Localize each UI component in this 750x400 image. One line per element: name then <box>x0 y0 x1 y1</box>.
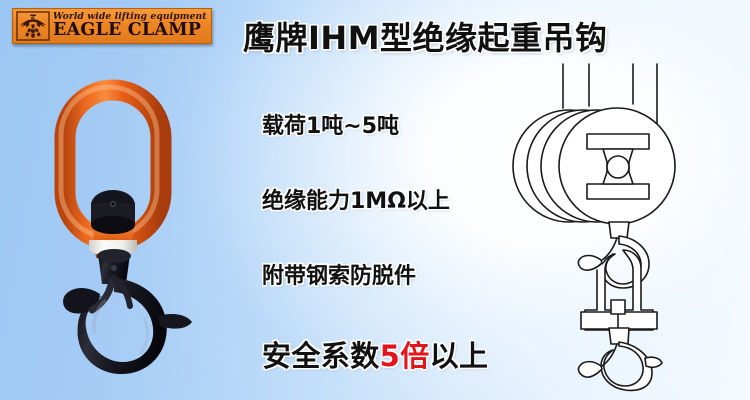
eagle-emblem-icon: CLAMP <box>16 11 50 41</box>
logo-wordmark: World wide lifting equipment EAGLE CLAMP <box>50 12 207 40</box>
logo-brand-name: EAGLE CLAMP <box>53 22 207 40</box>
product-photo-svg <box>40 72 240 382</box>
crane-hook-tip <box>578 256 602 271</box>
line-drawing-svg <box>505 62 720 392</box>
block-plate-bottom <box>587 184 649 199</box>
safety-factor-prefix: 安全系数 <box>262 339 380 373</box>
eagle-emblem-svg: CLAMP <box>16 11 50 41</box>
lower-hook-lug <box>645 357 662 367</box>
lower-hook-body <box>601 342 652 390</box>
feature-item-safety-factor: 安全系数5倍以上 <box>262 333 542 375</box>
bolt-head <box>611 300 625 314</box>
eagle-clamp-logo: CLAMP World wide lifting equipment EAGLE… <box>12 8 212 44</box>
feature-list: 载荷1吨~5吨 绝缘能力1MΩ以上 附带钢索防脱件 安全系数5倍以上 <box>262 108 542 375</box>
safety-factor-accent: 5倍 <box>380 339 430 373</box>
block-center-pin <box>607 156 629 178</box>
block-plate-top <box>587 134 649 149</box>
svg-text:CLAMP: CLAMP <box>29 16 38 20</box>
safety-factor-suffix: 以上 <box>430 339 489 373</box>
feature-item-insulation: 绝缘能力1MΩ以上 <box>262 183 542 215</box>
product-banner: CLAMP World wide lifting equipment EAGLE… <box>0 0 750 400</box>
crane-hook-body <box>602 236 649 288</box>
feature-item-load: 载荷1吨~5吨 <box>262 108 542 140</box>
insulated-lifting-hook-photo <box>40 72 240 382</box>
pulley-block-and-hook-diagram <box>505 62 720 392</box>
page-title: 鹰牌IHM型绝缘起重吊钩 <box>243 13 608 59</box>
feature-item-rope-latch: 附带钢索防脱件 <box>262 258 542 290</box>
lower-hook-tip <box>578 362 602 378</box>
